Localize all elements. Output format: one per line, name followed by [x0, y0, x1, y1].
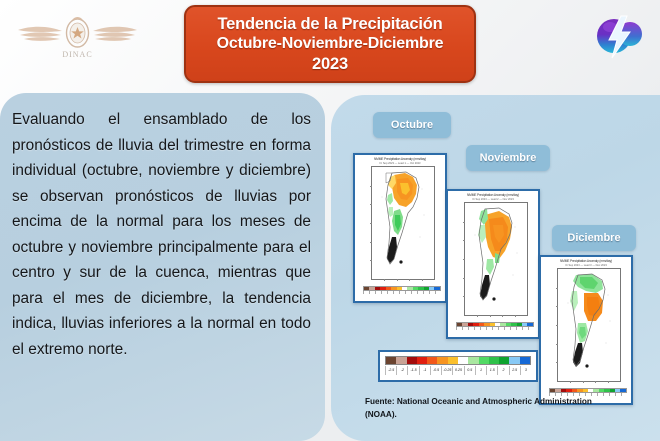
axis-tick-y [556, 344, 558, 345]
maps-panel: Octubre Noviembre Diciembre NMME Precipi… [331, 95, 660, 441]
axis-tick-x [384, 279, 385, 281]
axis-tick-x [515, 315, 516, 317]
axis-tick-y [556, 288, 558, 289]
colorbar-swatch-3 [417, 357, 427, 364]
colorbar-tick-4: -0.5 [430, 366, 441, 375]
axis-tick-y [370, 186, 372, 187]
colorbar-tick-8: 1 [475, 366, 486, 375]
map-subtitle: IC Sep 2023 — Lead 1 — Oct 2023 [355, 162, 445, 165]
axis-tick-x [409, 279, 410, 281]
map-plot-frame [557, 268, 621, 382]
axis-tick-y [463, 222, 465, 223]
colorbar-swatch-2 [407, 357, 417, 364]
axis-tick-y [463, 296, 465, 297]
map-colorbar-tick-12 [528, 327, 534, 330]
colorbar-swatch-8 [468, 357, 478, 364]
axis-tick-x [490, 315, 491, 317]
summary-text: Evaluando el ensamblado de los pronóstic… [12, 107, 311, 362]
map-colorbar-ticks [456, 327, 534, 330]
map-plot-frame [464, 202, 528, 316]
colorbar-swatch-4 [427, 357, 437, 364]
axis-tick-x [595, 381, 596, 383]
axis-tick-y [370, 260, 372, 261]
colorbar-swatch-10 [489, 357, 499, 364]
map-card-octubre[interactable]: NMME Precipitation Anomaly (mm/day) IC S… [353, 153, 447, 303]
colorbar-tick-11: 2.5 [509, 366, 520, 375]
title-line-2: Octubre-Noviembre-Diciembre [217, 34, 444, 54]
colorbar-swatch-13 [527, 323, 532, 326]
colorbar-strip [385, 356, 531, 365]
colorbar-swatch-7 [458, 357, 468, 364]
map-title: NMME Precipitation Anomaly (mm/day) [541, 259, 631, 263]
south-america-anomaly-map [465, 203, 527, 315]
map-colorbar-ticks [363, 291, 441, 294]
axis-tick-y [463, 278, 465, 279]
map-colorbar-tick-12 [435, 291, 441, 294]
colorbar-swatch-13 [434, 287, 439, 290]
map-plot-frame [371, 166, 435, 280]
colorbar-tick-10: 2 [497, 366, 508, 375]
cloud-lightning-logo [590, 8, 646, 64]
map-card-noviembre[interactable]: NMME Precipitation Anomaly (mm/day) IC S… [446, 189, 540, 339]
axis-tick-x [570, 381, 571, 383]
map-subtitle: IC Sep 2023 — Lead 3 — Dec 2023 [541, 264, 631, 267]
title-line-3: 2023 [312, 54, 348, 74]
axis-tick-x [422, 279, 423, 281]
colorbar-tick-6: 0.25 [452, 366, 463, 375]
month-tag-octubre: Octubre [373, 112, 451, 138]
source-note: Fuente: National Oceanic and Atmospheric… [365, 396, 615, 421]
axis-tick-x [477, 315, 478, 317]
colorbar-tick-0: -2.5 [385, 366, 396, 375]
axis-tick-y [370, 223, 372, 224]
colorbar-tick-3: -1 [419, 366, 430, 375]
header: DINAC Tendencia de la Precipitación Octu… [0, 0, 660, 96]
map-title: NMME Precipitation Anomaly (mm/day) [448, 193, 538, 197]
colorbar-swatch-12 [509, 357, 519, 364]
colorbar-tick-labels: -2.5-2-1.5-1-0.5-0.250.250.511.522.53 [385, 366, 531, 375]
colorbar-tick-7: 0.5 [464, 366, 475, 375]
south-america-anomaly-map [372, 167, 434, 279]
shared-colorbar-legend: -2.5-2-1.5-1-0.5-0.250.250.511.522.53 [378, 350, 538, 382]
colorbar-swatch-0 [386, 357, 396, 364]
axis-tick-y [556, 362, 558, 363]
summary-text-panel: Evaluando el ensamblado de los pronóstic… [0, 93, 325, 441]
south-america-anomaly-map [558, 269, 620, 381]
dinac-logo: DINAC [10, 8, 145, 70]
month-tag-noviembre: Noviembre [466, 145, 550, 171]
colorbar-tick-2: -1.5 [407, 366, 418, 375]
title-line-1: Tendencia de la Precipitación [218, 14, 443, 34]
map-colorbar [456, 322, 534, 331]
axis-tick-y [370, 204, 372, 205]
colorbar-swatch-1 [396, 357, 406, 364]
axis-tick-x [502, 315, 503, 317]
dinac-logo-caption: DINAC [10, 50, 145, 59]
axis-tick-y [370, 242, 372, 243]
month-tag-diciembre: Diciembre [552, 225, 636, 251]
colorbar-swatch-11 [499, 357, 509, 364]
colorbar-swatch-13 [520, 357, 530, 364]
colorbar-swatch-6 [448, 357, 458, 364]
axis-tick-x [608, 381, 609, 383]
map-colorbar-tick-12 [621, 393, 627, 396]
colorbar-swatch-5 [437, 357, 447, 364]
colorbar-tick-12: 3 [520, 366, 531, 375]
map-subtitle: IC Sep 2023 — Lead 2 — Nov 2023 [448, 198, 538, 201]
map-colorbar [363, 286, 441, 295]
axis-tick-y [463, 259, 465, 260]
colorbar-tick-9: 1.5 [486, 366, 497, 375]
axis-tick-y [463, 240, 465, 241]
colorbar-swatch-9 [479, 357, 489, 364]
title-banner: Tendencia de la Precipitación Octubre-No… [184, 5, 476, 83]
axis-tick-x [397, 279, 398, 281]
map-title: NMME Precipitation Anomaly (mm/day) [355, 157, 445, 161]
map-card-diciembre[interactable]: NMME Precipitation Anomaly (mm/day) IC S… [539, 255, 633, 405]
axis-tick-x [583, 381, 584, 383]
axis-tick-y [556, 306, 558, 307]
dinac-wings-icon [10, 16, 145, 50]
axis-tick-y [556, 325, 558, 326]
colorbar-tick-5: -0.25 [441, 366, 452, 375]
colorbar-swatch-13 [620, 389, 625, 392]
colorbar-tick-1: -2 [396, 366, 407, 375]
